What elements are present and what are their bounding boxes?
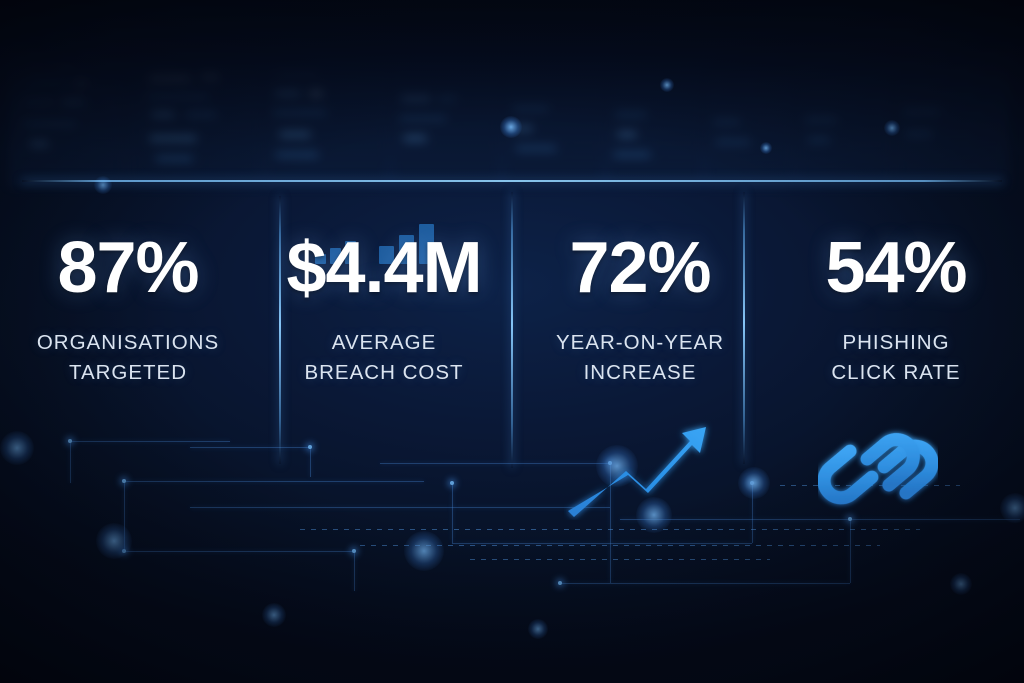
stat-card-year-on-year-increase: 72% YEAR-ON-YEAR INCREASE <box>512 196 768 426</box>
particle-glow <box>884 120 900 136</box>
statistics-row: 87% ORGANISATIONS TARGETED $4.4M AVERAGE… <box>0 196 1024 426</box>
stat-card-average-breach-cost: $4.4M AVERAGE BREACH COST <box>256 196 512 426</box>
particle-glow <box>760 142 772 154</box>
stat-label: AVERAGE BREACH COST <box>304 328 463 387</box>
top-fade-overlay <box>0 0 1024 200</box>
stat-label: YEAR-ON-YEAR INCREASE <box>556 328 724 387</box>
stat-value: 72% <box>569 232 710 304</box>
top-divider-line <box>22 180 1002 182</box>
stat-label: ORGANISATIONS TARGETED <box>37 328 219 387</box>
particle-glow <box>500 116 522 138</box>
stat-value: 87% <box>57 232 198 304</box>
stat-label: PHISHING CLICK RATE <box>831 328 960 387</box>
particle-glow <box>94 176 112 194</box>
stat-card-phishing-click-rate: 54% PHISHING CLICK RATE <box>768 196 1024 426</box>
stat-value: 54% <box>825 232 966 304</box>
stat-card-organisations-targeted: 87% ORGANISATIONS TARGETED <box>0 196 256 426</box>
stat-value: $4.4M <box>286 232 481 304</box>
infographic-canvas: 87% ORGANISATIONS TARGETED $4.4M AVERAGE… <box>0 0 1024 683</box>
chain-link-icon <box>818 418 938 526</box>
trending-up-arrow-icon <box>564 415 714 520</box>
particle-glow <box>660 78 674 92</box>
